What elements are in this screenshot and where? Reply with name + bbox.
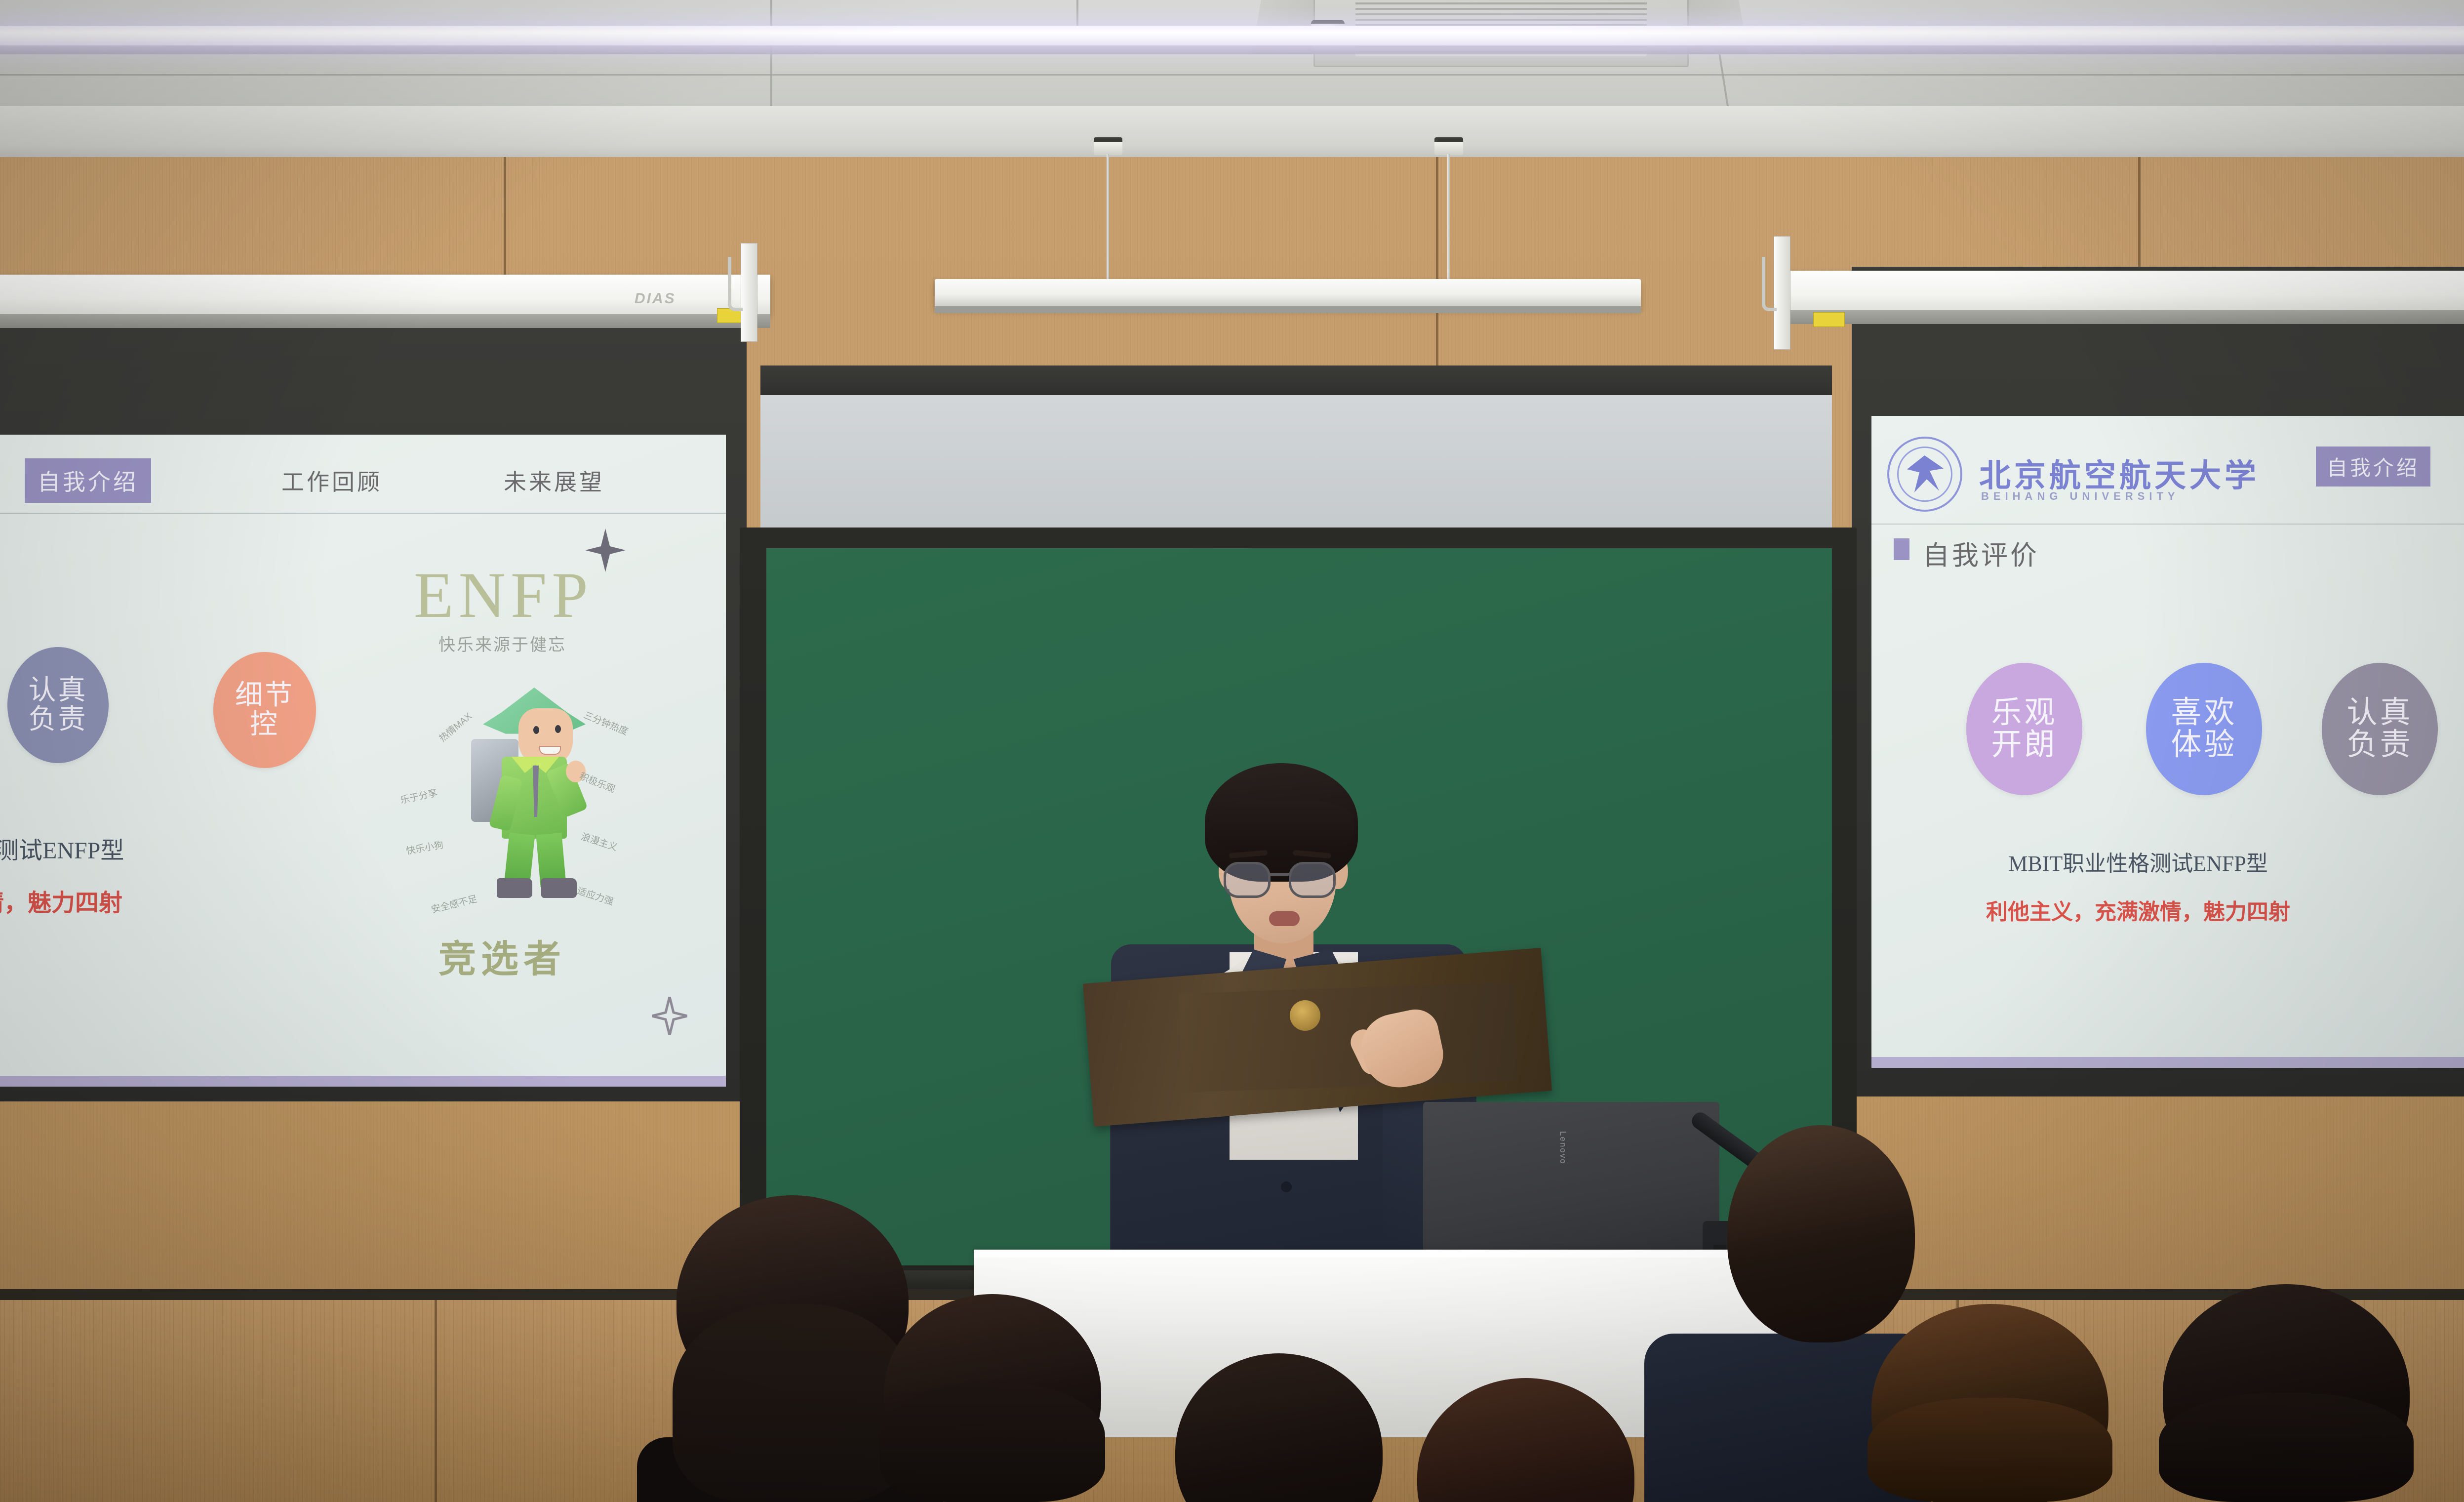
character-shoe [497, 878, 532, 898]
screen-brand-label: DIAS [635, 290, 676, 307]
character-eye [555, 725, 561, 733]
beihang-logo-chinese: 北京航空航天大学 [1979, 450, 2260, 496]
center-screen-top-bar [760, 365, 1832, 399]
right-slide-bubble-2: 喜欢 体验 [2146, 663, 2262, 795]
bubble-line-1: 喜欢 [2171, 697, 2237, 729]
left-slide-header-rule [0, 513, 726, 514]
screen-mount-bracket [741, 243, 757, 342]
presenter-mouth [1269, 911, 1300, 926]
glasses-lens-left [1224, 862, 1271, 898]
enfp-title: ENFP [414, 557, 593, 633]
right-slide-bubble-3: 认真 负责 [2322, 663, 2438, 795]
pendant-light-underside [935, 306, 1641, 313]
pendant-ceiling-mount [1434, 137, 1463, 155]
audience-hair [1868, 1398, 2112, 1502]
right-slide-caption-2: 利他主义，充满激情，魅力四射 [1986, 894, 2290, 926]
left-slide-bubble-1: 认真 负责 [7, 647, 109, 763]
enfp-subtitle: 快乐来源于健忘 [438, 631, 566, 655]
section-bullet-icon [1894, 538, 1909, 560]
monitor-brand-label: Lenovo [1558, 1131, 1568, 1165]
screen-mount-arm [1762, 257, 1777, 311]
enfp-trait-label: 乐于分享 [399, 785, 438, 806]
right-screen-housing-underside [1783, 310, 2464, 324]
bubble-line-2: 控 [250, 710, 279, 739]
right-slide-section-title: 自我评价 [1923, 533, 2039, 572]
bubble-line-1: 细节 [235, 681, 294, 710]
folder-emblem-icon [1290, 1000, 1320, 1031]
bubble-line-2: 负责 [29, 705, 88, 734]
right-slide-caption-1: MBIT职业性格测试ENFP型 [2008, 846, 2268, 877]
bubble-line-1: 乐观 [1991, 697, 2057, 729]
presenter-jacket-button [1281, 1181, 1292, 1192]
left-slide-nav-item-2[interactable]: 工作回顾 [281, 464, 382, 497]
bubble-line-2: 开朗 [1991, 729, 2057, 761]
right-slide-header-rule [1871, 524, 2464, 525]
right-screen-housing[interactable] [1783, 271, 2464, 311]
beihang-logo-english: BEIHANG UNIVERSITY [1981, 490, 2180, 503]
warning-sticker [1813, 312, 1845, 327]
left-screen-housing-underside [0, 314, 770, 328]
bubble-line-2: 负责 [2346, 729, 2413, 761]
right-projected-slide: 北京航空航天大学 BEIHANG UNIVERSITY 自我介绍 自我评价 乐观… [1871, 416, 2464, 1068]
lecture-hall-photo: DIAS 自我介绍 工作回顾 未来展望 认真 负责 细节 控 ENFP 快乐来源… [0, 0, 2464, 1502]
lectern-top-edge [974, 1250, 1788, 1258]
glasses-bridge [1270, 873, 1291, 876]
bubble-line-2: 体验 [2171, 729, 2237, 761]
glasses-lens-right [1289, 862, 1336, 898]
character-eye [533, 726, 539, 734]
left-projected-slide: 自我介绍 工作回顾 未来展望 认真 负责 细节 控 ENFP 快乐来源于健忘 [0, 435, 726, 1087]
ceiling-tile-seam [1076, 0, 1078, 26]
enfp-bottom-label: 竞选者 [438, 929, 566, 983]
bubble-line-1: 认真 [29, 676, 88, 705]
wood-panel-seam [435, 1300, 437, 1502]
presenter-hair-fringe [1211, 800, 1354, 859]
audience-head [1727, 1125, 1915, 1342]
left-slide-bubble-2: 细节 控 [213, 652, 316, 768]
audience-hair [2159, 1393, 2414, 1502]
ceiling-light-strip [0, 26, 2464, 45]
pendant-ceiling-mount [1094, 137, 1122, 155]
left-slide-body-line-1: 测试ENFP型 [0, 831, 124, 865]
character-shoe [541, 878, 577, 898]
right-slide-nav-badge[interactable]: 自我介绍 [2316, 447, 2430, 487]
pendant-wire [1107, 154, 1109, 285]
pendant-wire [1447, 154, 1450, 285]
right-slide-footer-bar [1871, 1057, 2464, 1068]
screen-mount-arm [728, 257, 743, 311]
audience-hair [880, 1383, 1105, 1502]
ceiling-soffit [0, 106, 2464, 163]
presenter-folder-flap [1179, 982, 1518, 1093]
pendant-light-fixture [935, 279, 1641, 308]
bubble-line-1: 认真 [2346, 697, 2413, 729]
audience-hair [673, 1304, 914, 1502]
left-slide-nav-item-3[interactable]: 未来展望 [504, 464, 604, 497]
enfp-trait-label: 快乐小狗 [405, 838, 444, 857]
left-slide-nav-active[interactable]: 自我介绍 [25, 458, 151, 503]
enfp-trait-label: 安全感不足 [430, 892, 478, 916]
left-slide-body-line-2: 情，魅力四射 [0, 883, 122, 918]
left-slide-footer-bar [0, 1076, 726, 1087]
ceiling-light-strip-shadow [0, 45, 2464, 54]
ceiling-tile-seam [0, 74, 2464, 76]
right-slide-bubble-1: 乐观 开朗 [1966, 663, 2082, 795]
sparkle-icon [652, 997, 687, 1035]
character-mouth [539, 746, 561, 755]
